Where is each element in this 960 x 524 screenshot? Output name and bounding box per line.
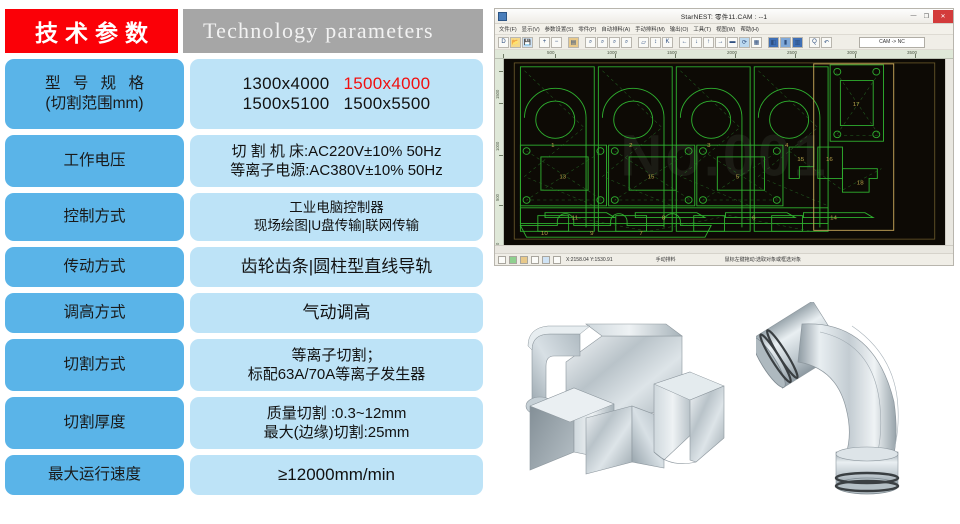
polar-icon[interactable] (542, 256, 550, 264)
row-value-max-speed: ≥12000mm/min (190, 455, 483, 495)
max-speed-text: ≥12000mm/min (278, 464, 395, 486)
svg-text:15: 15 (797, 157, 805, 163)
svg-text:4: 4 (785, 143, 789, 149)
model-1300x4000: 1300x4000 (243, 74, 330, 94)
measure-icon[interactable]: ↕ (650, 37, 661, 48)
menu-tools[interactable]: 工具(T) (693, 25, 711, 33)
horizontal-ruler: 500 1000 1500 2000 2500 3000 3500 (495, 50, 953, 59)
row-label-line1: 最大运行速度 (48, 465, 141, 485)
row-label-line1: 控制方式 (63, 207, 125, 227)
status-coordinate: X:2158.04 Y:1530.91 (566, 257, 613, 263)
nest-icon[interactable]: ◧ (768, 37, 779, 48)
save-file-icon[interactable]: 💾 (522, 37, 533, 48)
cad-body: 1500 1000 500 0 No.001 (495, 59, 953, 245)
menu-file[interactable]: 文件(F) (499, 25, 517, 33)
svg-text:2: 2 (629, 143, 633, 149)
row-value-height-adjust: 气动调高 (190, 293, 483, 333)
status-mode: 手动排料 (656, 256, 676, 263)
menu-output[interactable]: 输出(O) (670, 25, 689, 33)
cutting-method-type: 等离子切割； (291, 346, 381, 366)
ruler-label-v: 1000 (495, 142, 500, 151)
array-icon[interactable]: ▦ (751, 37, 762, 48)
vertical-scrollbar[interactable] (945, 59, 953, 245)
status-message: 鼠标左键拖动:选取对象或框选对象 (725, 256, 801, 263)
rotate-icon[interactable]: ⟳ (739, 37, 750, 48)
move-down-icon[interactable]: ↓ (691, 37, 702, 48)
spec-table: 技术参数 Technology parameters 型 号 规 格 (切割范围… (5, 9, 483, 501)
text-icon[interactable]: K (662, 37, 673, 48)
svg-text:10: 10 (541, 231, 549, 237)
round-duct-elbow-photo (756, 302, 941, 507)
row-value-model: 1300x4000 1500x4000 1500x5100 1500x5500 (190, 59, 483, 129)
row-value-cutting-method: 等离子切割； 标配63A/70A等离子发生器 (190, 339, 483, 391)
open-file-icon[interactable]: 📂 (510, 37, 521, 48)
slide-root: 技术参数 Technology parameters 型 号 规 格 (切割范围… (0, 0, 960, 524)
svg-text:5: 5 (736, 175, 740, 181)
row-label-line1: 型 号 规 格 (41, 74, 148, 94)
magnify-window-icon[interactable]: ⌕ (597, 37, 608, 48)
model-1500x5500: 1500x5500 (344, 94, 431, 114)
svg-text:13: 13 (559, 175, 567, 181)
ruler-label-h: 500 (547, 50, 555, 55)
zoom-in-icon[interactable]: + (539, 37, 550, 48)
select-icon[interactable]: ▱ (638, 37, 649, 48)
row-label-line1: 调高方式 (63, 303, 125, 323)
svg-text:1: 1 (551, 143, 555, 149)
svg-text:7: 7 (639, 231, 643, 237)
header-title-cn: 技术参数 (5, 9, 178, 53)
snap-icon[interactable] (498, 256, 506, 264)
cad-menubar: 文件(F) 显示(V) 参数设置(S) 零件(P) 自动排料(A) 手动排料(M… (495, 24, 953, 35)
thickness-quality: 质量切割 :0.3~12mm (267, 404, 407, 424)
thickness-max: 最大(边缘)切割:25mm (264, 423, 410, 443)
svg-text:15: 15 (648, 175, 656, 181)
table-row: 控制方式 工业电脑控制器 现场绘图|U盘传输|联网传输 (5, 193, 483, 241)
row-label-voltage: 工作电压 (5, 135, 184, 187)
cad-canvas[interactable]: No.001 (504, 59, 945, 245)
svg-text:11: 11 (572, 216, 579, 222)
row-label-line1: 传动方式 (63, 257, 125, 277)
ortho-icon[interactable] (509, 256, 517, 264)
undo-icon[interactable]: ↶ (821, 37, 832, 48)
move-up-icon[interactable]: ↑ (703, 37, 714, 48)
cad-window-title: StarNEST: 零件11.CAM : --1 (495, 11, 953, 21)
zoom-previous-icon[interactable]: ⌕ (621, 37, 632, 48)
horizontal-scrollbar[interactable] (495, 245, 953, 253)
zoom-out-icon[interactable]: − (551, 37, 562, 48)
row-label-height-adjust: 调高方式 (5, 293, 184, 333)
voltage-plasma: 等离子电源:AC380V±10% 50Hz (230, 161, 442, 181)
table-row: 切割厚度 质量切割 :0.3~12mm 最大(边缘)切割:25mm (5, 397, 483, 449)
grid-icon[interactable]: ▤ (568, 37, 579, 48)
row-label-model: 型 号 规 格 (切割范围mm) (5, 59, 184, 129)
control-transfer: 现场绘图|U盘传输|联网传输 (254, 217, 419, 235)
cad-titlebar[interactable]: StarNEST: 零件11.CAM : --1 — ❐ ✕ (495, 9, 953, 24)
svg-text:3: 3 (707, 143, 711, 149)
query-icon[interactable]: Q (809, 37, 820, 48)
menu-help[interactable]: 帮助(H) (740, 25, 758, 33)
table-row: 最大运行速度 ≥12000mm/min (5, 455, 483, 495)
row-label-control: 控制方式 (5, 193, 184, 241)
menu-params[interactable]: 参数设置(S) (545, 25, 574, 33)
row-label-thickness: 切割厚度 (5, 397, 184, 449)
svg-text:14: 14 (830, 216, 838, 222)
row-label-line1: 切割方式 (63, 355, 125, 375)
move-right-icon[interactable]: → (715, 37, 726, 48)
rectangular-duct-fittings-photo (514, 310, 744, 505)
cad-statusbar: X:2158.04 Y:1530.91 手动排料 鼠标左键拖动:选取对象或框选对… (495, 253, 953, 265)
ruler-label-v: 1500 (495, 90, 500, 99)
product-photos (484, 292, 960, 520)
height-adjust-text: 气动调高 (303, 302, 371, 324)
spec-table-header: 技术参数 Technology parameters (5, 9, 483, 53)
voltage-machine: 切 割 机 床:AC220V±10% 50Hz (232, 142, 442, 162)
move-left-icon[interactable]: ← (679, 37, 690, 48)
row-value-control: 工业电脑控制器 现场绘图|U盘传输|联网传输 (190, 193, 483, 241)
row-value-transmission: 齿轮齿条|圆柱型直线导轨 (190, 247, 483, 287)
row-label-max-speed: 最大运行速度 (5, 455, 184, 495)
cad-software-window: StarNEST: 零件11.CAM : --1 — ❐ ✕ 文件(F) 显示(… (494, 8, 954, 266)
svg-text:9: 9 (590, 231, 594, 237)
row-label-line1: 切割厚度 (63, 413, 125, 433)
model-line-1: 1300x4000 1500x4000 (243, 74, 431, 94)
menu-auto-nest[interactable]: 自动排料(A) (601, 25, 630, 33)
ruler-label-v: 500 (495, 194, 500, 201)
menu-parts[interactable]: 零件(P) (578, 25, 596, 33)
part-icon[interactable]: ▮ (780, 37, 791, 48)
row-value-thickness: 质量切割 :0.3~12mm 最大(边缘)切割:25mm (190, 397, 483, 449)
zoom-fit-icon[interactable]: ⌕ (609, 37, 620, 48)
model-line-2: 1500x5100 1500x5500 (243, 94, 431, 114)
svg-text:17: 17 (853, 102, 861, 108)
model-1500x5100: 1500x5100 (243, 94, 330, 114)
row-label-line2: (切割范围mm) (45, 94, 143, 114)
table-row: 切割方式 等离子切割； 标配63A/70A等离子发生器 (5, 339, 483, 391)
magnify-icon[interactable]: ⌕ (585, 37, 596, 48)
transmission-text: 齿轮齿条|圆柱型直线导轨 (241, 256, 432, 278)
table-row: 传动方式 齿轮齿条|圆柱型直线导轨 (5, 247, 483, 287)
cad-toolbar: D 📂 💾 + − ▤ ⌕ ⌕ ⌕ ⌕ ▱ ↕ K ← ↓ ↑ → ▬ ⟳ ▦ (495, 35, 953, 50)
menu-view[interactable]: 视图(W) (716, 25, 735, 33)
table-row: 工作电压 切 割 机 床:AC220V±10% 50Hz 等离子电源:AC380… (5, 135, 483, 187)
row-label-transmission: 传动方式 (5, 247, 184, 287)
table-icon[interactable]: ▥ (792, 37, 803, 48)
row-label-cutting-method: 切割方式 (5, 339, 184, 391)
nesting-drawing: 1 2 3 4 17 13 15 5 15 16 18 11 8 6 (504, 59, 945, 245)
grid-snap-icon[interactable] (520, 256, 528, 264)
cam-to-nc-combo[interactable]: CAM -> NC (859, 37, 925, 48)
align-icon[interactable]: ▬ (727, 37, 738, 48)
cutting-method-generator: 标配63A/70A等离子发生器 (248, 365, 426, 385)
menu-manual-nest[interactable]: 手动排料(M) (635, 25, 665, 33)
table-row: 调高方式 气动调高 (5, 293, 483, 333)
table-row: 型 号 规 格 (切割范围mm) 1300x4000 1500x4000 150… (5, 59, 483, 129)
model-1500x4000-highlighted: 1500x4000 (344, 74, 431, 94)
menu-display[interactable]: 显示(V) (522, 25, 540, 33)
svg-text:18: 18 (857, 180, 865, 186)
svg-text:16: 16 (826, 157, 834, 163)
vertical-ruler: 1500 1000 500 0 (495, 59, 504, 245)
control-device: 工业电脑控制器 (289, 199, 384, 217)
layer-icon[interactable] (531, 256, 539, 264)
locate-icon[interactable] (553, 256, 561, 264)
row-value-voltage: 切 割 机 床:AC220V±10% 50Hz 等离子电源:AC380V±10%… (190, 135, 483, 187)
new-file-icon[interactable]: D (498, 37, 509, 48)
header-title-en: Technology parameters (183, 9, 483, 53)
ruler-label-v: 0 (495, 243, 500, 245)
svg-text:6: 6 (752, 216, 756, 222)
row-label-line1: 工作电压 (63, 151, 125, 171)
